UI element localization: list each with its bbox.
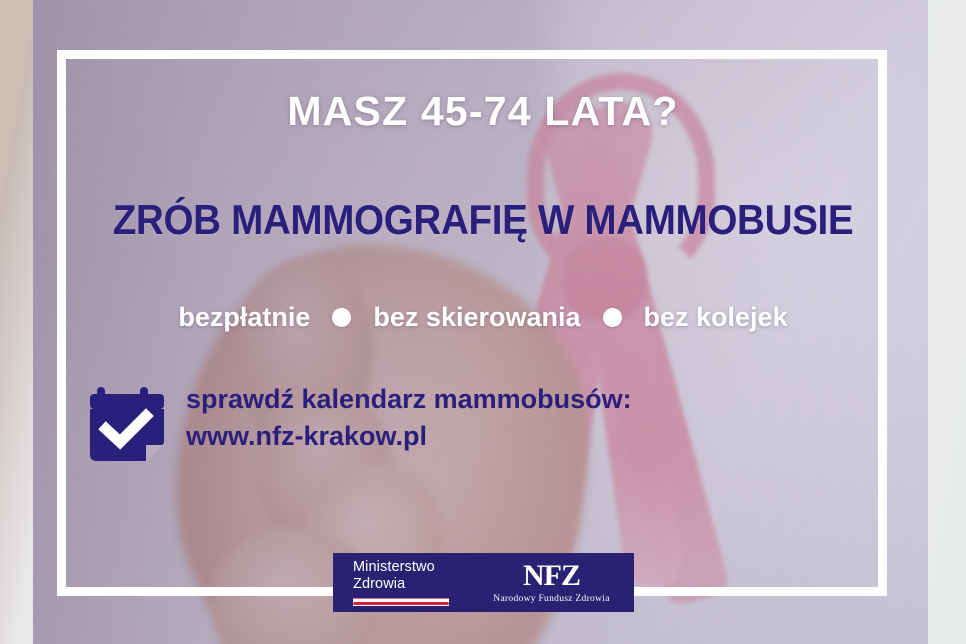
nfz-wordmark: NFZ: [523, 561, 580, 591]
bullet-dot-icon: [603, 308, 622, 327]
page-title: MASZ 45-74 LATA?: [0, 88, 966, 135]
polish-flag-icon: [353, 598, 449, 606]
website-url[interactable]: www.nfz-krakow.pl: [186, 418, 632, 455]
subheadline: ZRÓB MAMMOGRAFIĘ W MAMMOBUSIE: [39, 196, 928, 244]
ministry-of-health-logo: Ministerstwo Zdrowia: [333, 559, 479, 606]
call-to-action: sprawdź kalendarz mammobusów: www.nfz-kr…: [88, 381, 632, 463]
ministry-line-2: Zdrowia: [353, 576, 479, 593]
footer-logo-bar: Ministerstwo Zdrowia NFZ Narodowy Fundus…: [333, 553, 634, 612]
poster-root: MASZ 45-74 LATA? ZRÓB MAMMOGRAFIĘ W MAMM…: [0, 0, 966, 644]
call-to-action-text: sprawdź kalendarz mammobusów: www.nfz-kr…: [186, 381, 632, 456]
nfz-logo: NFZ Narodowy Fundusz Zdrowia: [479, 561, 634, 604]
ministry-line-1: Ministerstwo: [353, 559, 479, 576]
benefit-item: bezpłatnie: [178, 302, 310, 333]
calendar-label: sprawdź kalendarz mammobusów:: [186, 381, 632, 418]
benefit-item: bez skierowania: [373, 302, 580, 333]
benefits-list: bezpłatnie bez skierowania bez kolejek: [0, 302, 966, 333]
poster-content: MASZ 45-74 LATA? ZRÓB MAMMOGRAFIĘ W MAMM…: [0, 0, 966, 644]
benefit-item: bez kolejek: [644, 302, 788, 333]
calendar-check-icon: [88, 383, 166, 463]
nfz-subtitle: Narodowy Fundusz Zdrowia: [479, 594, 624, 604]
bullet-dot-icon: [332, 308, 351, 327]
